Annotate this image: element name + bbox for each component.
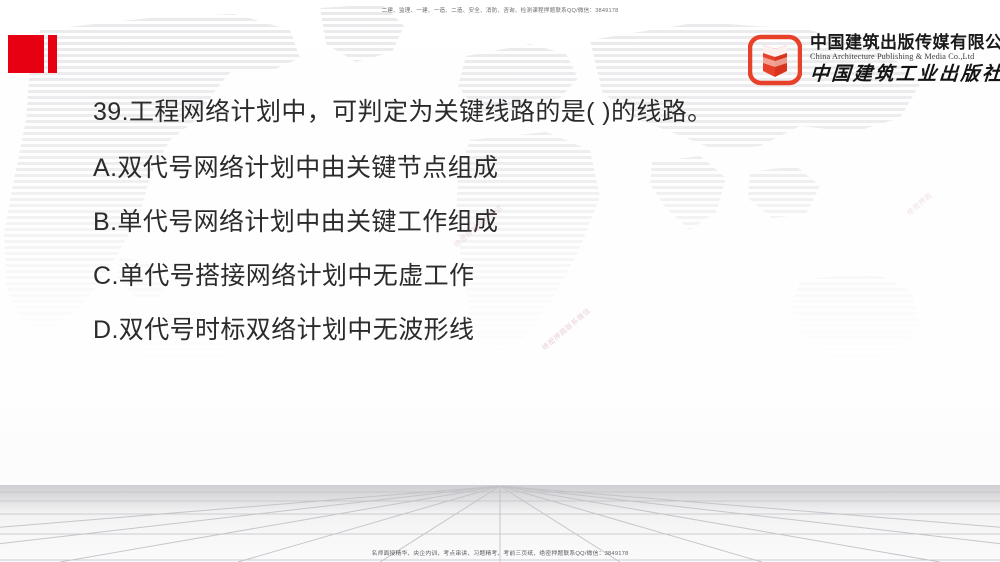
question-stem: 39.工程网络计划中，可判定为关键线路的是( )的线路。 [93,100,893,125]
red-bar-accent [48,35,57,73]
slide-canvas: 中国建筑出版传媒有限公司 China Architecture Publishi… [0,0,1000,562]
question-content: 39.工程网络计划中，可判定为关键线路的是( )的线路。 A.双代号网络计划中由… [93,100,893,372]
publisher-book-logo-icon [748,33,802,87]
publisher-press-cn: 中国建筑工业出版社 [809,64,1000,86]
option-c[interactable]: C.单代号搭接网络计划中无虚工作 [93,264,893,289]
header-contact-note: 二建、监理、一建、一造、二造、安全、消防、咨询、检测课程押题联系QQ/微信：38… [0,6,1000,14]
option-d[interactable]: D.双代号时标双络计划中无波形线 [93,318,893,343]
footer-contact-note: 名师面授精华、央企内训、考点串讲、习题精考、考前三页纸、绝密押题联系QQ/微信：… [0,548,1000,557]
publisher-logo-text: 中国建筑出版传媒有限公司 China Architecture Publishi… [810,33,1000,86]
publisher-logo: 中国建筑出版传媒有限公司 China Architecture Publishi… [748,33,1000,87]
publisher-company-cn: 中国建筑出版传媒有限公司 [810,33,1000,52]
option-b[interactable]: B.单代号网络计划中由关键工作组成 [93,210,893,235]
publisher-company-en: China Architecture Publishing & Media Co… [810,52,1000,63]
red-square-accent [8,35,44,73]
option-a[interactable]: A.双代号网络计划中由关键节点组成 [93,156,893,181]
